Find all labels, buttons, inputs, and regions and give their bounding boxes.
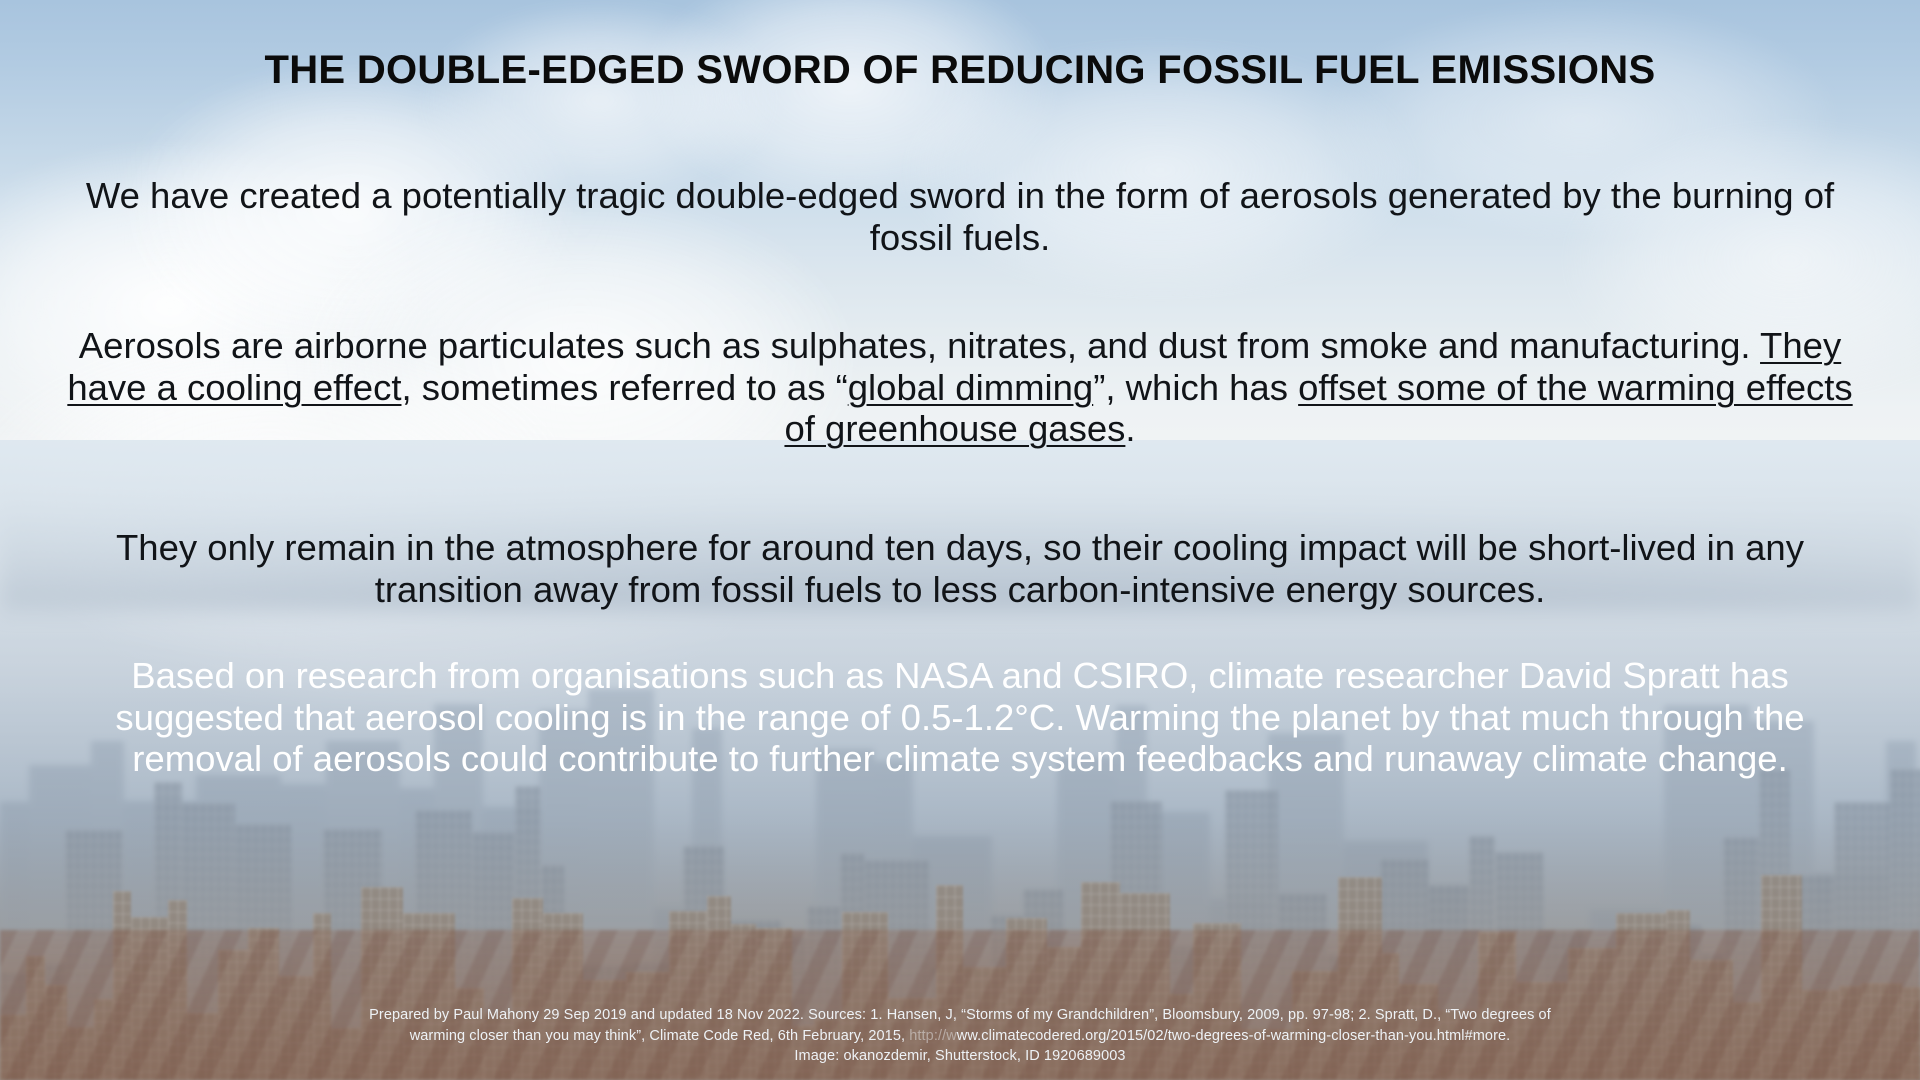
footer-citation-text: warming closer than you may think”, Clim… <box>410 1028 910 1044</box>
aerosols-sentence-mid1: , sometimes referred to as “ <box>401 367 847 408</box>
underlined-global-dimming: global dimming <box>848 367 1093 408</box>
slide-root: THE DOUBLE-EDGED SWORD OF REDUCING FOSSI… <box>0 0 1920 1080</box>
paragraph-atmosphere-lifetime-text: They only remain in the atmosphere for a… <box>50 527 1870 610</box>
paragraph-aerosols-text: Aerosols are airborne particulates such … <box>50 325 1870 450</box>
footer-url-prefix[interactable]: http://w <box>909 1028 957 1044</box>
slide-title: THE DOUBLE-EDGED SWORD OF REDUCING FOSSI… <box>0 48 1920 92</box>
footer-attribution: Prepared by Paul Mahony 29 Sep 2019 and … <box>0 1005 1920 1067</box>
footer-line-citation: warming closer than you may think”, Clim… <box>0 1026 1920 1047</box>
footer-line-sources: Prepared by Paul Mahony 29 Sep 2019 and … <box>0 1005 1920 1026</box>
aerosols-sentence-lead: Aerosols are airborne particulates such … <box>79 325 1760 366</box>
paragraph-intro: We have created a potentially tragic dou… <box>50 175 1870 258</box>
paragraph-research-findings-text: Based on research from organisations suc… <box>50 655 1870 780</box>
paragraph-intro-text: We have created a potentially tragic dou… <box>50 175 1870 258</box>
footer-line-image-credit: Image: okanozdemir, Shutterstock, ID 192… <box>0 1046 1920 1067</box>
aerosols-sentence-end: . <box>1125 408 1135 449</box>
paragraph-research-findings: Based on research from organisations suc… <box>50 655 1870 780</box>
paragraph-aerosols: Aerosols are airborne particulates such … <box>50 325 1870 450</box>
footer-url-link[interactable]: ww.climatecodered.org/2015/02/two-degree… <box>957 1028 1511 1044</box>
slide-content: THE DOUBLE-EDGED SWORD OF REDUCING FOSSI… <box>0 0 1920 1080</box>
aerosols-sentence-mid2: ”, which has <box>1093 367 1298 408</box>
paragraph-atmosphere-lifetime: They only remain in the atmosphere for a… <box>50 527 1870 610</box>
